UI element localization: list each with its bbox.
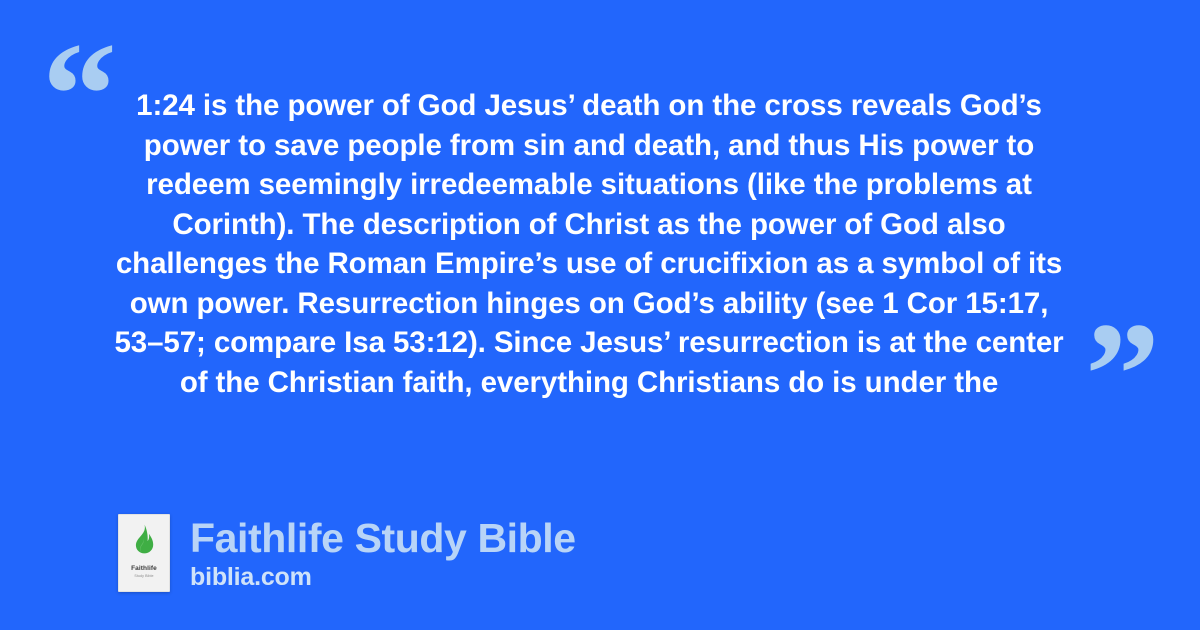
product-title: Faithlife Study Bible: [190, 516, 576, 561]
site-url[interactable]: biblia.com: [190, 563, 576, 591]
book-cover-thumbnail: Faithlife Study Bible: [118, 514, 170, 592]
book-cover-brand-label: Faithlife: [131, 566, 157, 573]
quote-card: “ ” 1:24 is the power of God Jesus’ deat…: [0, 0, 1200, 630]
faithlife-flame-icon: [131, 524, 157, 554]
footer-labels: Faithlife Study Bible biblia.com: [190, 516, 576, 591]
closing-quote-icon: ”: [1085, 300, 1160, 450]
quote-text: 1:24 is the power of God Jesus’ death on…: [108, 86, 1070, 402]
opening-quote-icon: “: [42, 20, 117, 170]
footer-branding: Faithlife Study Bible Faithlife Study Bi…: [118, 514, 576, 592]
quote-block: 1:24 is the power of God Jesus’ death on…: [108, 86, 1070, 402]
book-cover-subtitle-label: Study Bible: [134, 575, 153, 579]
